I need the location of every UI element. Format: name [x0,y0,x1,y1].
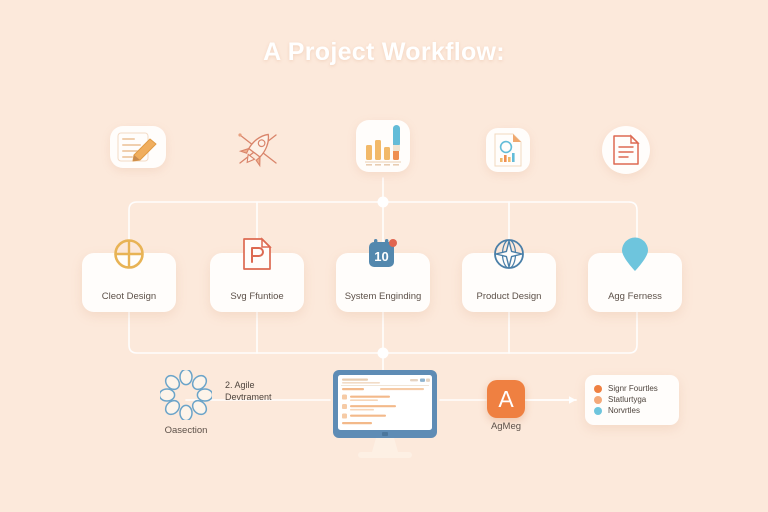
workflow-card-2-label: Svg Ffuntioe [210,292,304,303]
globe-compass-icon [492,237,526,276]
workflow-card-3-label: System Enginding [336,292,430,303]
crosshair-target-icon [112,237,146,276]
calendar-10-icon: 10 [365,237,401,276]
workflow-card-4-label: Product Design [462,292,556,303]
legend-label-3: Norvrtles [608,406,640,415]
workflow-card-1[interactable]: Cleot Design [82,253,176,312]
desktop-monitor[interactable] [330,368,440,473]
agile-badge[interactable]: A [487,380,525,418]
legend-item-1: Signr Fourtles [594,384,670,393]
legend-dot-2 [594,396,602,404]
workflow-card-5[interactable]: Agg Ferness [588,253,682,312]
agile-badge-label: AgMeg [472,421,540,432]
location-pin-icon [619,237,651,278]
legend-dot-3 [594,407,602,415]
workflow-card-1-label: Cleot Design [82,292,176,303]
legend-card: Signr Fourtles Statlurtyga Norvrtles [585,375,679,425]
legend-item-3: Norvrtles [594,406,670,415]
node-dot-lower [378,348,389,359]
petal-ring-label: Oasection [165,425,208,436]
legend-item-2: Statlurtyga [594,395,670,404]
presentation-file-icon [242,237,272,276]
legend-label-1: Signr Fourtles [608,384,658,393]
infographic-canvas: A Project Workflow: [0,0,768,512]
rocket-icon [232,126,284,170]
text-document-icon [602,126,650,174]
step-note: 2. Agile Devtrament [225,379,305,403]
workflow-card-5-label: Agg Ferness [588,292,682,303]
petal-ring-icon [160,370,212,420]
legend-label-2: Statlurtyga [608,395,646,404]
agile-badge-glyph: A [498,388,513,411]
pie-chart-document-icon [486,128,530,172]
checklist-document-icon [110,126,166,168]
petal-ring-cluster[interactable]: Oasection [138,370,234,436]
workflow-card-4[interactable]: Product Design [462,253,556,312]
node-dot-upper [378,197,389,208]
bar-chart-icon [356,120,410,172]
arrow-to-legend [525,396,576,404]
workflow-card-3[interactable]: 10 System Enginding [336,253,430,312]
workflow-card-2[interactable]: Svg Ffuntioe [210,253,304,312]
legend-dot-1 [594,385,602,393]
svg-text:10: 10 [374,249,388,264]
